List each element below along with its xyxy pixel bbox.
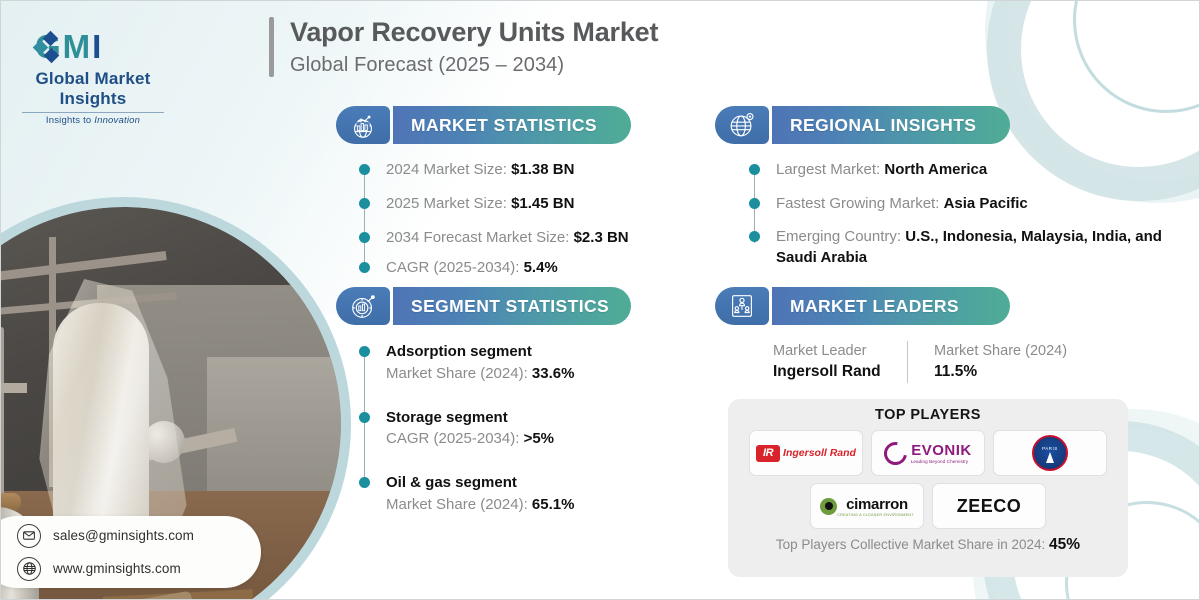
region-value: Asia Pacific bbox=[944, 195, 1028, 212]
podium-icon bbox=[715, 287, 769, 325]
stat-value: 5.4% bbox=[524, 259, 558, 276]
bullet-dot-icon bbox=[360, 413, 369, 422]
stat-value: $1.38 BN bbox=[511, 161, 574, 178]
player-logo-cimarron[interactable]: cimarron CREATING A CLEANER ENVIRONMENT bbox=[810, 483, 924, 529]
segment-value: >5% bbox=[524, 430, 554, 447]
logo-diamonds-icon bbox=[35, 33, 61, 63]
player-logo-ingersoll-rand[interactable]: IR Ingersoll Rand bbox=[749, 430, 863, 476]
market-share-column: Market Share (2024) 11.5% bbox=[934, 341, 1067, 383]
globe-pin-icon bbox=[715, 106, 769, 144]
page-title-block: Vapor Recovery Units Market Global Forec… bbox=[269, 17, 658, 77]
evonik-tagline: Leading Beyond Chemistry bbox=[911, 459, 969, 464]
player-logo-zeeco[interactable]: ZEECO bbox=[932, 483, 1046, 529]
logo-company-name: Global Market Insights bbox=[13, 69, 173, 109]
region-value: North America bbox=[884, 161, 987, 178]
list-item: Adsorption segment Market Share (2024): … bbox=[360, 341, 690, 385]
segment-label: Market Share (2024): bbox=[386, 496, 532, 513]
zeeco-name: ZEECO bbox=[957, 496, 1022, 517]
bullet-dot-icon bbox=[360, 347, 369, 356]
contact-card: sales@gminsights.com www.gminsights.com bbox=[0, 516, 261, 588]
segment-value: 65.1% bbox=[532, 496, 575, 513]
evonik-name: EVONIK bbox=[911, 442, 972, 459]
top-players-row-1: IR Ingersoll Rand EVONIK Leading Beyond … bbox=[728, 430, 1128, 476]
segment-title: Oil & gas segment bbox=[386, 472, 690, 494]
bullet-dot-icon bbox=[360, 165, 369, 174]
page-title: Vapor Recovery Units Market bbox=[290, 17, 658, 49]
segment-value: 33.6% bbox=[532, 365, 575, 382]
stat-label: CAGR (2025-2034): bbox=[386, 259, 524, 276]
list-item: 2024 Market Size: $1.38 BN bbox=[360, 159, 690, 181]
logo-letter-m: M bbox=[63, 30, 90, 63]
contact-website-row[interactable]: www.gminsights.com bbox=[17, 557, 261, 581]
market-statistics-list: 2024 Market Size: $1.38 BN 2025 Market S… bbox=[360, 159, 690, 279]
logo-tagline-prefix: Insights to bbox=[46, 115, 94, 126]
logo-letter-i: I bbox=[92, 30, 100, 63]
section-header-segment-statistics: SEGMENT STATISTICS bbox=[336, 287, 631, 325]
bullet-dot-icon bbox=[750, 199, 759, 208]
stat-label: 2034 Forecast Market Size: bbox=[386, 229, 574, 246]
top-players-title: TOP PLAYERS bbox=[728, 407, 1128, 423]
cimarron-leaf-icon bbox=[820, 498, 837, 515]
list-item: CAGR (2025-2034): 5.4% bbox=[360, 257, 690, 279]
bullet-dot-icon bbox=[360, 478, 369, 487]
contact-email-row[interactable]: sales@gminsights.com bbox=[17, 524, 261, 548]
segment-target-icon bbox=[336, 287, 390, 325]
player-logo-psg[interactable]: PARIS bbox=[993, 430, 1107, 476]
list-item: Fastest Growing Market: Asia Pacific bbox=[750, 193, 1170, 215]
title-accent-bar bbox=[269, 17, 274, 77]
ingersoll-rand-mark: IR bbox=[756, 445, 780, 462]
list-item: Largest Market: North America bbox=[750, 159, 1170, 181]
page-subtitle: Global Forecast (2025 – 2034) bbox=[290, 53, 658, 77]
top-players-footer-value: 45% bbox=[1049, 536, 1080, 553]
segment-title: Adsorption segment bbox=[386, 341, 690, 363]
envelope-icon bbox=[17, 524, 41, 548]
regional-insights-list: Largest Market: North America Fastest Gr… bbox=[750, 159, 1170, 269]
decor-arc-top-right-thin bbox=[1073, 0, 1200, 113]
segment-title: Storage segment bbox=[386, 407, 690, 429]
region-label: Largest Market: bbox=[776, 161, 884, 178]
segment-label: CAGR (2025-2034): bbox=[386, 430, 524, 447]
region-label: Fastest Growing Market: bbox=[776, 195, 944, 212]
list-item: 2025 Market Size: $1.45 BN bbox=[360, 193, 690, 215]
market-leader-summary: Market Leader Ingersoll Rand Market Shar… bbox=[773, 341, 1067, 383]
market-share-value: 11.5% bbox=[934, 361, 1067, 383]
top-players-panel: TOP PLAYERS IR Ingersoll Rand EVONIK Lea… bbox=[728, 399, 1128, 577]
gmi-logo: G M I Global Market Insights Insights to… bbox=[13, 27, 173, 99]
section-label-regional-insights: REGIONAL INSIGHTS bbox=[790, 115, 976, 136]
list-item: Emerging Country: U.S., Indonesia, Malay… bbox=[750, 226, 1170, 270]
list-item: Oil & gas segment Market Share (2024): 6… bbox=[360, 472, 690, 516]
list-item: Storage segment CAGR (2025-2034): >5% bbox=[360, 407, 690, 451]
section-header-market-leaders: MARKET LEADERS bbox=[715, 287, 1010, 325]
market-leader-label: Market Leader bbox=[773, 341, 881, 361]
bullet-dot-icon bbox=[360, 199, 369, 208]
psg-crest-icon: PARIS bbox=[1032, 435, 1068, 471]
globe-chart-icon bbox=[336, 106, 390, 144]
infographic-root: G M I Global Market Insights Insights to… bbox=[0, 0, 1200, 600]
eiffel-tower-icon bbox=[1046, 452, 1054, 463]
bullet-dot-icon bbox=[360, 233, 369, 242]
bullet-dot-icon bbox=[750, 232, 759, 241]
contact-email: sales@gminsights.com bbox=[53, 528, 194, 543]
stat-value: $2.3 BN bbox=[574, 229, 629, 246]
cimarron-name: cimarron bbox=[846, 496, 908, 513]
section-header-regional-insights: REGIONAL INSIGHTS bbox=[715, 106, 1010, 144]
market-leader-column: Market Leader Ingersoll Rand bbox=[773, 341, 881, 383]
market-share-label: Market Share (2024) bbox=[934, 341, 1067, 361]
bullet-dot-icon bbox=[750, 165, 759, 174]
logo-divider bbox=[22, 112, 164, 113]
logo-tagline: Insights to Innovation bbox=[13, 115, 173, 126]
player-logo-evonik[interactable]: EVONIK Leading Beyond Chemistry bbox=[871, 430, 985, 476]
section-header-market-statistics: MARKET STATISTICS bbox=[336, 106, 631, 144]
ingersoll-rand-name: Ingersoll Rand bbox=[783, 447, 856, 459]
section-label-market-leaders: MARKET LEADERS bbox=[790, 296, 959, 317]
globe-icon bbox=[17, 557, 41, 581]
section-label-market-statistics: MARKET STATISTICS bbox=[411, 115, 597, 136]
region-label: Emerging Country: bbox=[776, 228, 905, 245]
segment-label: Market Share (2024): bbox=[386, 365, 532, 382]
stat-value: $1.45 BN bbox=[511, 195, 574, 212]
stat-label: 2024 Market Size: bbox=[386, 161, 511, 178]
logo-tagline-italic: Innovation bbox=[94, 115, 140, 126]
segment-statistics-list: Adsorption segment Market Share (2024): … bbox=[360, 341, 690, 516]
market-leader-value: Ingersoll Rand bbox=[773, 361, 881, 383]
leader-divider bbox=[907, 341, 908, 383]
contact-website: www.gminsights.com bbox=[53, 561, 181, 576]
bullet-dot-icon bbox=[360, 263, 369, 272]
section-label-segment-statistics: SEGMENT STATISTICS bbox=[411, 296, 609, 317]
top-players-footer: Top Players Collective Market Share in 2… bbox=[728, 536, 1128, 554]
top-players-footer-label: Top Players Collective Market Share in 2… bbox=[776, 537, 1049, 552]
list-item: 2034 Forecast Market Size: $2.3 BN bbox=[360, 227, 690, 249]
stat-label: 2025 Market Size: bbox=[386, 195, 511, 212]
psg-name: PARIS bbox=[1042, 446, 1058, 451]
cimarron-tagline: CREATING A CLEANER ENVIRONMENT bbox=[837, 513, 914, 517]
top-players-row-2: cimarron CREATING A CLEANER ENVIRONMENT … bbox=[728, 483, 1128, 529]
